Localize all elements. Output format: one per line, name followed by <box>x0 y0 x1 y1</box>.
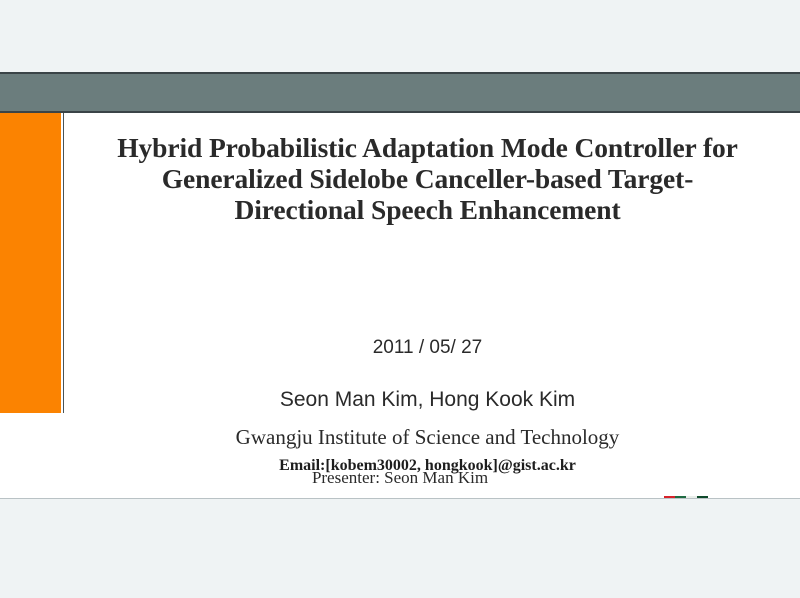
presentation-slide-viewport: Hybrid Probabilistic Adaptation Mode Con… <box>0 0 800 598</box>
slide-canvas: Hybrid Probabilistic Adaptation Mode Con… <box>0 72 800 499</box>
affiliation: Gwangju Institute of Science and Technol… <box>70 425 785 450</box>
slide-title: Hybrid Probabilistic Adaptation Mode Con… <box>70 132 785 225</box>
slide-accent-block-orange <box>0 113 62 413</box>
title-line-2: Generalized Sidelobe Canceller-based Tar… <box>70 163 785 194</box>
presentation-date: 2011 / 05/ 27 <box>70 337 785 359</box>
author-list: Seon Man Kim, Hong Kook Kim <box>70 388 785 412</box>
title-line-3: Directional Speech Enhancement <box>70 194 785 225</box>
presenter-caption: Presenter: Seon Man Kim <box>0 468 800 488</box>
title-line-1: Hybrid Probabilistic Adaptation Mode Con… <box>70 132 785 163</box>
slide-header-band <box>0 72 800 113</box>
slide-bottom-rule <box>0 498 800 499</box>
slide-accent-divider-rule <box>63 113 64 413</box>
